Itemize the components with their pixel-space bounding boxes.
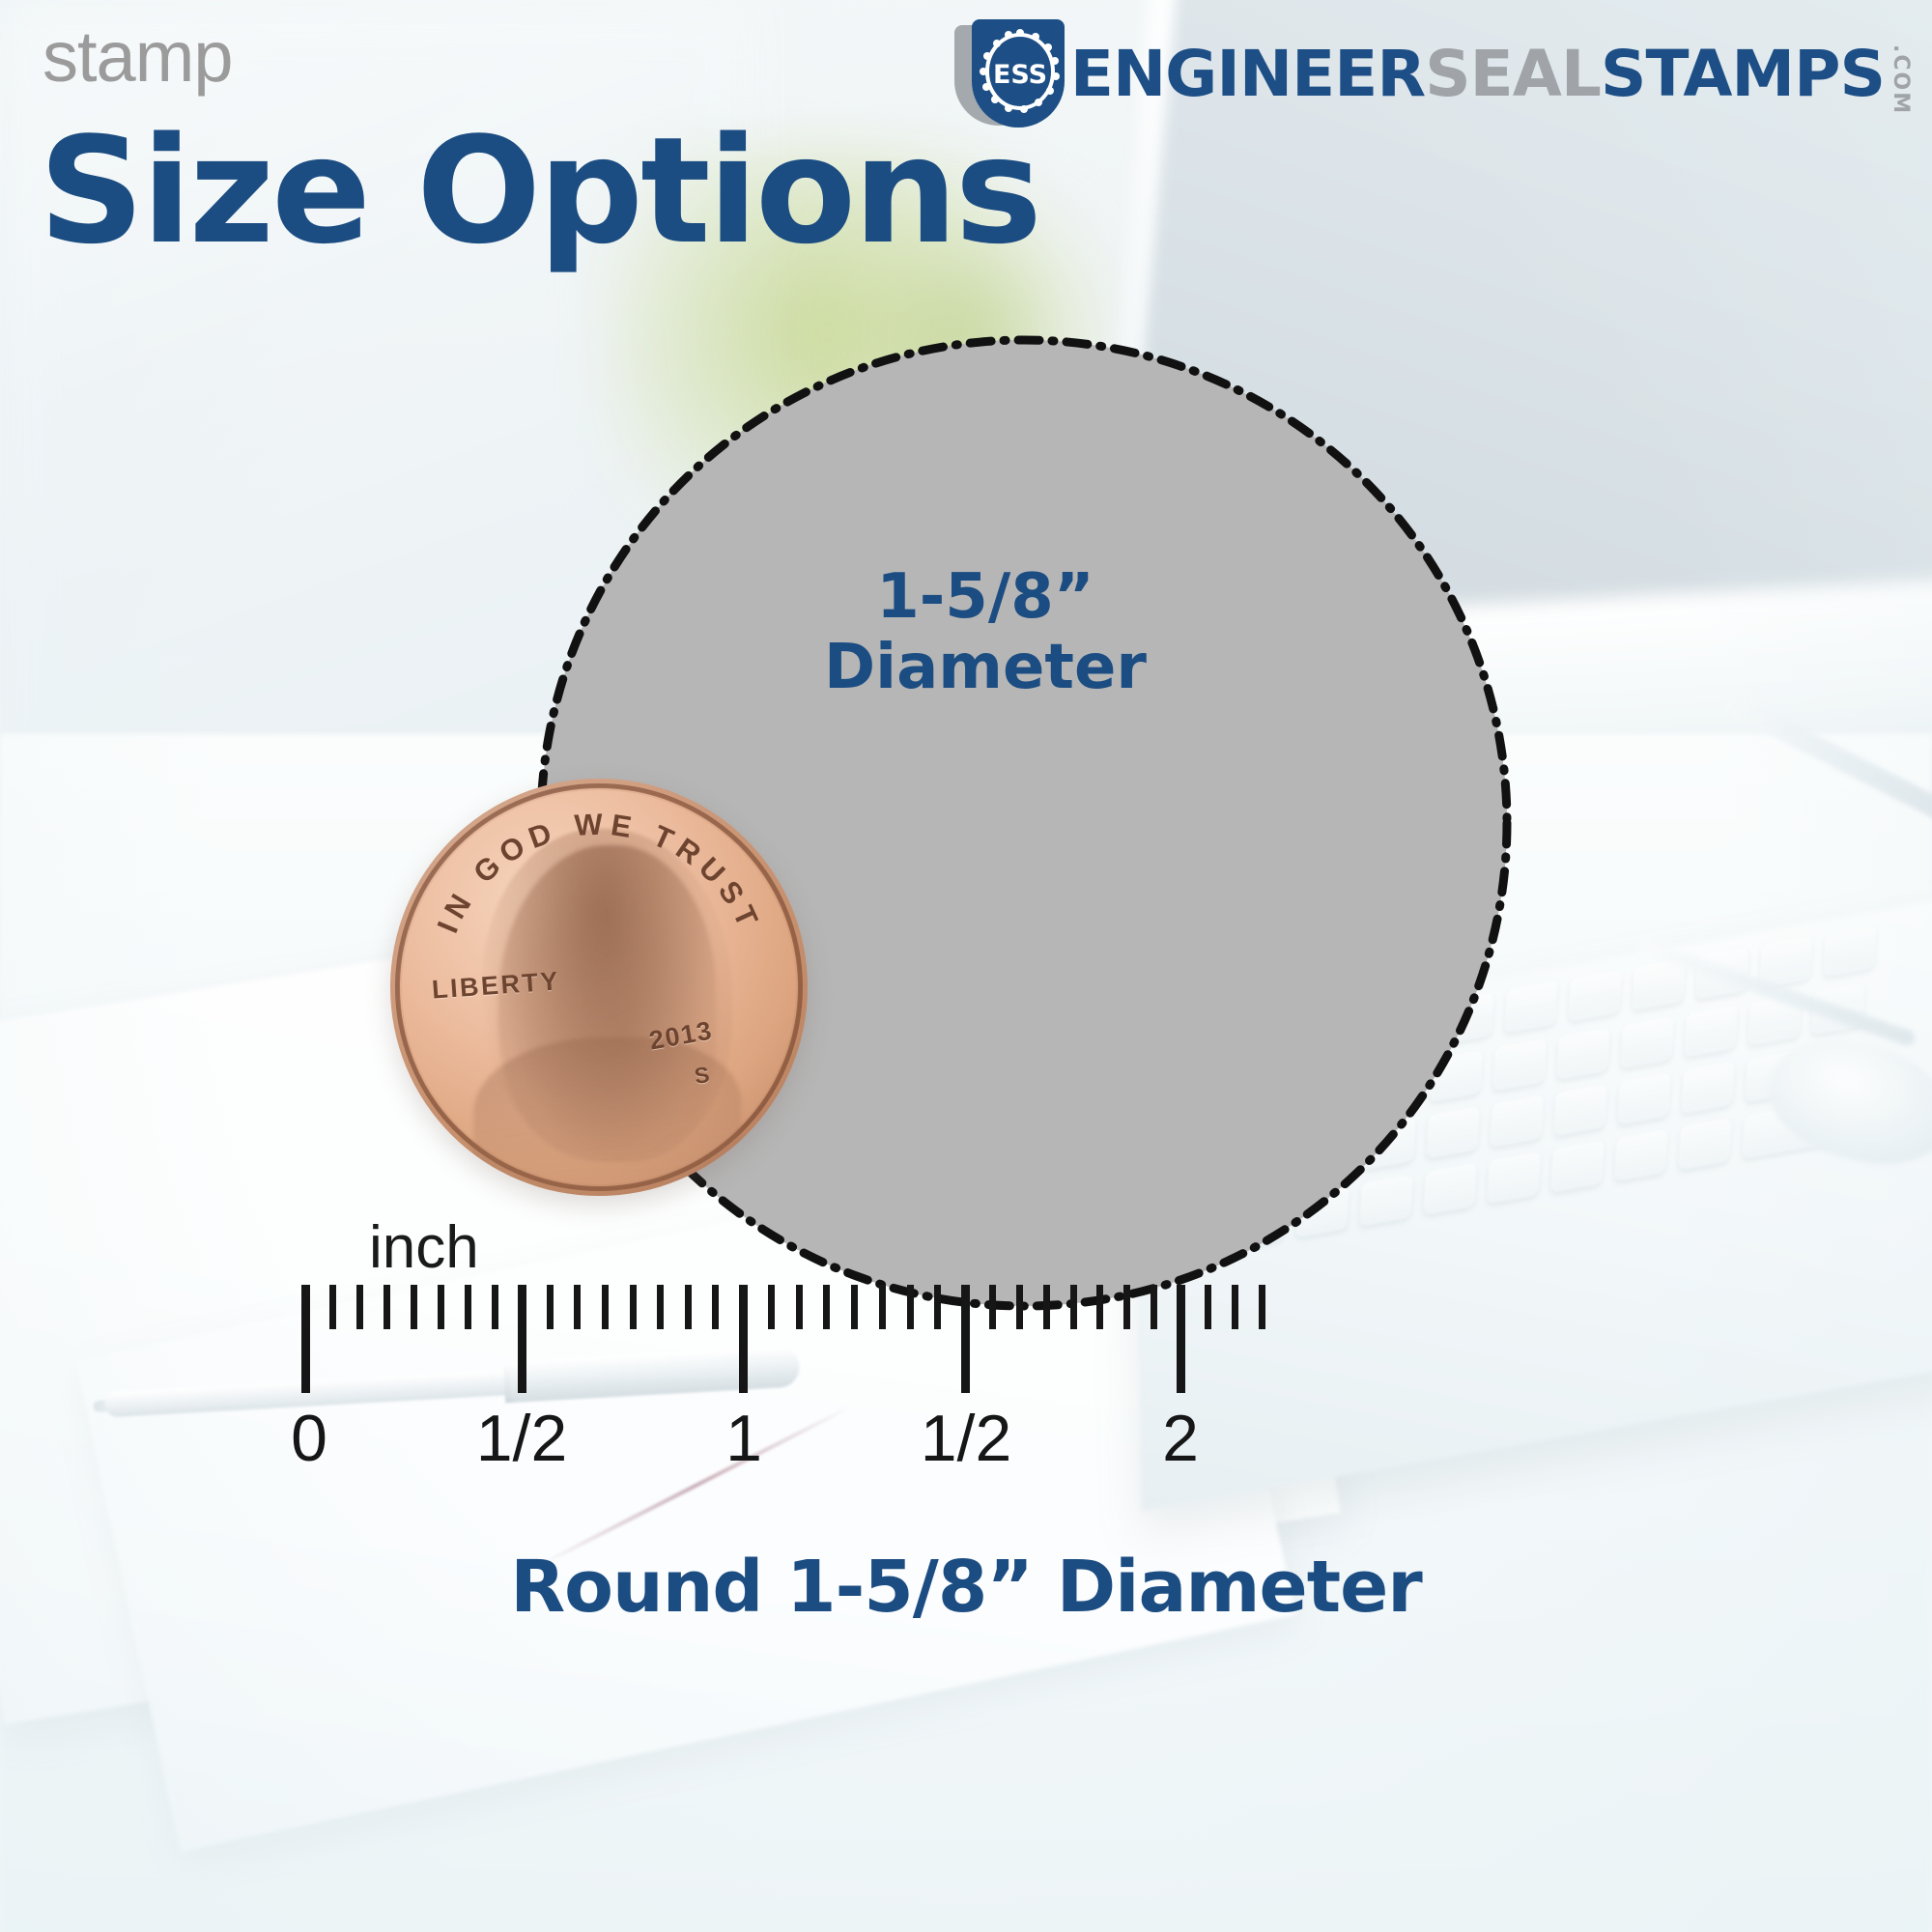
ruler-tick-minor <box>1070 1285 1077 1329</box>
ruler-tick-minor <box>384 1285 390 1329</box>
ruler-unit-label: inch <box>369 1213 479 1282</box>
ruler-tick-minor <box>1123 1285 1130 1329</box>
ruler-tick-minor <box>796 1285 803 1329</box>
ruler-tick-minor <box>1205 1285 1211 1329</box>
ruler-tick-minor <box>602 1285 609 1329</box>
ruler-tick-minor <box>1232 1285 1238 1329</box>
ruler-number-label: 2 <box>1162 1401 1199 1476</box>
inch-ruler: inch 01/211/22 <box>0 0 1932 1932</box>
ruler-tick-minor <box>934 1285 941 1329</box>
ruler-tick-minor <box>1096 1285 1103 1329</box>
ruler-number-label: 1/2 <box>921 1401 1012 1476</box>
ruler-tick-major <box>1177 1285 1185 1393</box>
size-options-infographic: stamp Size Options ESS <box>0 0 1932 1932</box>
ruler-tick-minor <box>329 1285 336 1329</box>
ruler-tick-minor <box>907 1285 914 1329</box>
ruler-tick-minor <box>712 1285 719 1329</box>
ruler-tick-minor <box>492 1285 498 1329</box>
ruler-tick-major <box>301 1285 310 1393</box>
ruler-tick-minor <box>851 1285 858 1329</box>
ruler-number-label: 1 <box>725 1401 762 1476</box>
ruler-number-label: 1/2 <box>476 1401 568 1476</box>
ruler-tick-minor <box>356 1285 363 1329</box>
ruler-tick-minor <box>411 1285 417 1329</box>
ruler-tick-minor <box>989 1285 996 1329</box>
ruler-tick-major <box>961 1285 970 1393</box>
ruler-tick-minor <box>547 1285 554 1329</box>
ruler-tick-major <box>518 1285 526 1393</box>
ruler-tick-minor <box>438 1285 444 1329</box>
ruler-tick-minor <box>574 1285 581 1329</box>
ruler-tick-minor <box>657 1285 664 1329</box>
ruler-tick-minor <box>1259 1285 1265 1329</box>
ruler-tick-minor <box>823 1285 830 1329</box>
ruler-tick-minor <box>879 1285 886 1329</box>
ruler-tick-minor <box>1016 1285 1023 1329</box>
ruler-tick-minor <box>465 1285 471 1329</box>
ruler-tick-major <box>739 1285 748 1393</box>
ruler-tick-minor <box>768 1285 775 1329</box>
ruler-tick-minor <box>685 1285 692 1329</box>
ruler-tick-minor <box>1043 1285 1050 1329</box>
ruler-tick-minor <box>630 1285 637 1329</box>
size-caption: Round 1-5/8” Diameter <box>0 1546 1932 1629</box>
ruler-number-label: 0 <box>291 1401 327 1476</box>
ruler-tick-minor <box>1151 1285 1157 1329</box>
